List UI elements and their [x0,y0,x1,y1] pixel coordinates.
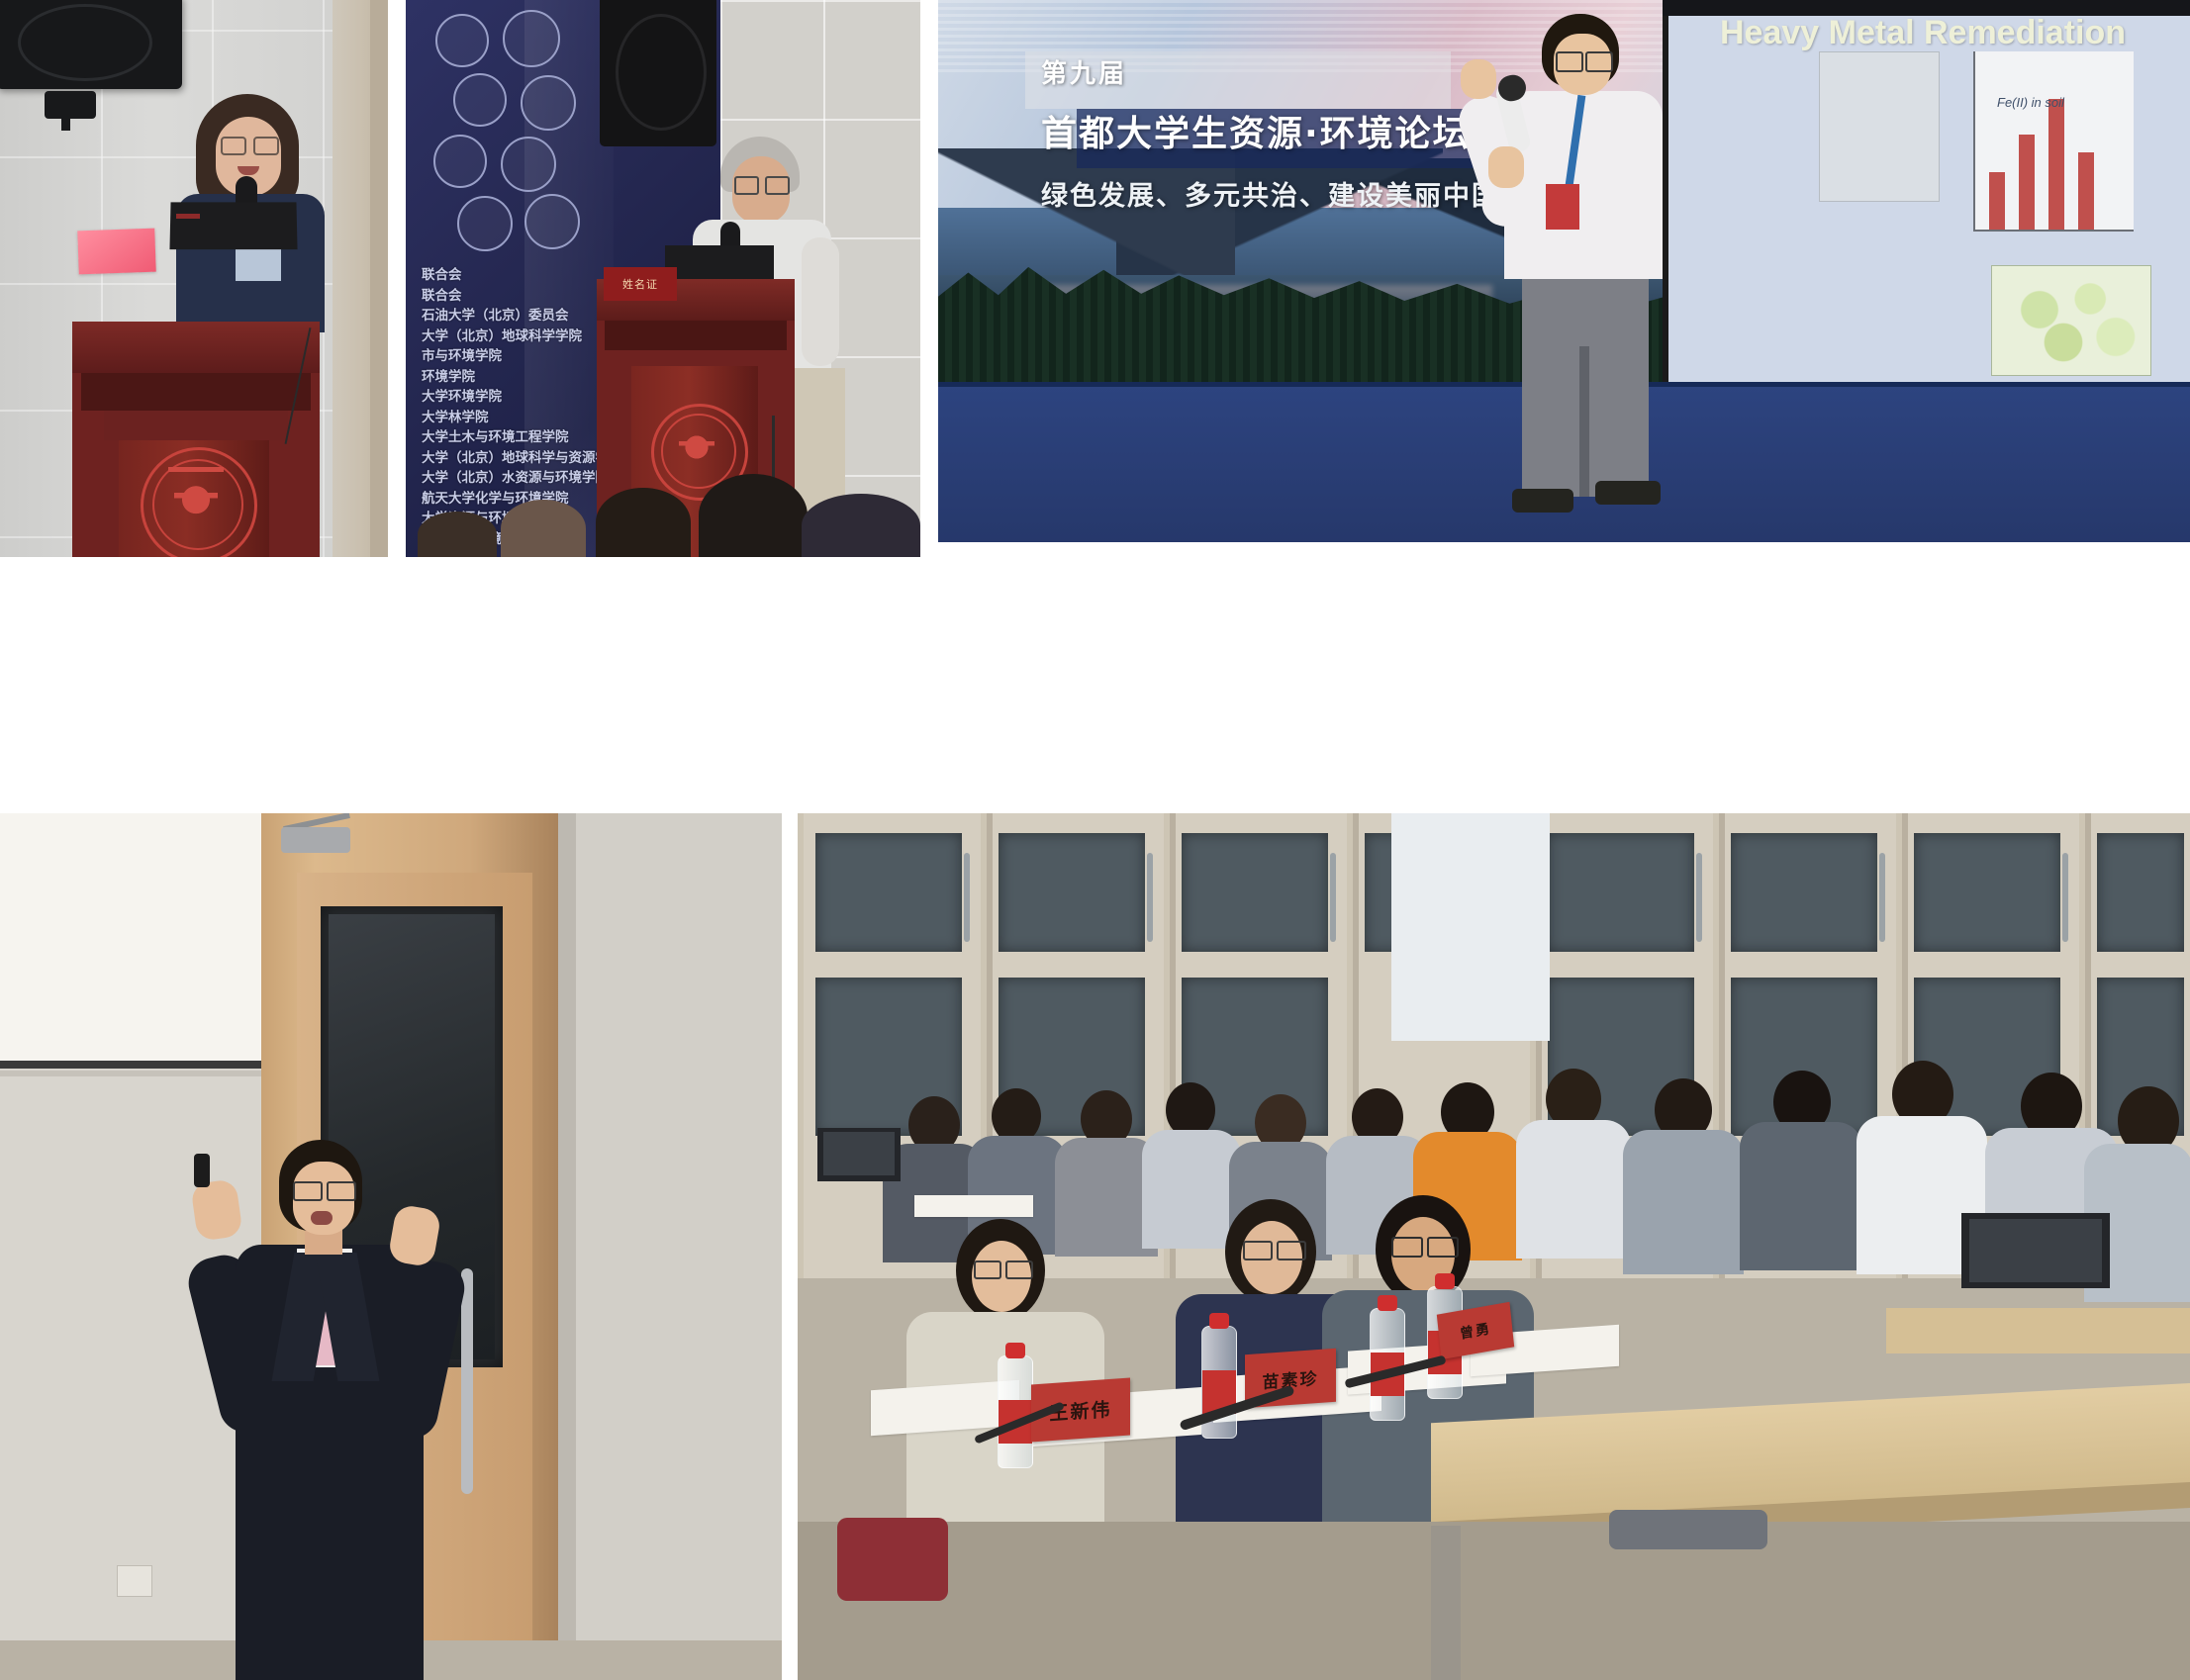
audience-head [501,500,586,557]
glasses-icon [1005,1260,1033,1279]
university-seal-icon [521,75,576,131]
wall-socket-icon [117,1565,152,1597]
university-seal-icon [453,73,507,127]
university-seal-icon [501,137,556,192]
office-chair[interactable] [837,1518,948,1601]
audience-head [596,488,691,557]
audience-body [1142,1130,1241,1249]
cabinet-glass-door [815,833,962,952]
wall-column-edge [370,0,388,557]
laptop-logo [176,214,200,219]
university-crest-bar [168,467,224,472]
ceiling-speaker-icon [0,0,182,89]
photo-panel-woman-speaker [0,0,388,557]
speaker-trousers [794,368,845,516]
photo-collage: 联合会 联合会 石油大学（北京）委员会 大学（北京）地球科学学院 市与环境学院 … [0,0,2190,1680]
slide-caption: Fe(II) in soil [1997,95,2064,110]
door-handle[interactable] [461,1268,473,1494]
speaker-mount [45,91,96,119]
university-crest-mark [679,431,714,471]
university-seal-icon [433,135,487,188]
photo-panel-stage-presenter: 第九届 首都大学生资源·环境论坛 绿色发展、多元共治、建设美丽中国 Heavy … [938,0,2190,542]
university-crest-mark [174,481,218,528]
cabinet-glass-door [2097,833,2184,952]
window [1391,813,1550,1041]
glasses-icon [974,1260,1001,1279]
photo-panel-audience-judges: 王新伟 苗素珍 曾勇 [798,813,2190,1680]
photo-panel-senior-speaker: 联合会 联合会 石油大学（北京）委员会 大学（北京）地球科学学院 市与环境学院 … [406,0,920,557]
presenter-shoe [1595,481,1661,505]
cabinet-glass-door [1731,833,1877,952]
glasses-icon [327,1181,356,1201]
office-chair[interactable] [1609,1510,1767,1549]
glasses-icon [1277,1241,1306,1260]
table-leg [1431,1526,1461,1680]
wall-trim [0,1071,297,1076]
water-bottle [998,1355,1033,1468]
slide-image-left [1819,51,1940,202]
slide-chart-bar [2019,135,2035,230]
glasses-icon [1391,1237,1423,1258]
cabinet-handle[interactable] [964,853,970,942]
laptop-screen [823,1132,895,1175]
university-seal-icon [435,14,489,67]
slide-chart-bar [2078,152,2094,230]
middle-row-table [1886,1308,2190,1353]
forum-edition-label: 第九届 [1041,53,1127,90]
ceiling-speaker-icon [600,0,716,146]
document [914,1195,1033,1217]
presenter-hand-left [1461,59,1496,99]
glasses-icon [293,1181,323,1201]
glasses-icon [1427,1237,1459,1258]
cabinet-handle[interactable] [1696,853,1702,942]
badge-icon [1546,184,1579,230]
audience-head [802,494,920,557]
slide-chart [1973,51,2134,232]
glasses-icon [734,176,759,195]
audience-body [1740,1122,1862,1270]
podium-top [72,322,320,373]
cabinet-glass-door [1548,833,1694,952]
side-wall-edge [558,813,576,1680]
audience-head [418,512,497,557]
glasses-icon [1585,51,1613,72]
door-closer-icon [281,827,350,853]
glasses-icon [1556,51,1583,72]
audience-body [1516,1120,1631,1259]
slide-title: Heavy Metal Remediation [1720,14,2126,52]
cabinet-glass-door [1914,833,2060,952]
presenter-hand-right [1488,146,1524,188]
presentation-clicker-icon [194,1154,210,1187]
photo-panel-suited-presenter [0,813,782,1680]
glasses-icon [253,137,279,155]
speaker-pole [61,115,70,131]
podium-nameplate: 姓名证 [604,267,677,301]
cabinet-glass-door [1182,833,1328,952]
laptop-screen [1969,1219,2102,1282]
podium-band [605,321,787,350]
presenter-shoe [1512,489,1573,513]
water-bottle [1370,1308,1405,1421]
university-seal-icon [524,194,580,249]
room-floor [798,1522,2190,1680]
slide-image-bottom [1991,265,2151,376]
cabinet-handle[interactable] [1330,853,1336,942]
glasses-icon [1243,1241,1273,1260]
university-seal-icon [457,196,513,251]
cabinet-handle[interactable] [1879,853,1885,942]
presenter-leg-split [1579,346,1589,497]
projection-screen-edge [0,1061,277,1069]
slide-chart-bar [1989,172,2005,230]
speaker-arm [802,237,839,366]
cabinet-handle[interactable] [1147,853,1153,942]
projection-screen [0,813,267,1063]
side-wall [558,813,782,1680]
podium-band [81,373,311,411]
podium-neck [104,411,288,440]
glasses-icon [765,176,790,195]
cabinet-handle[interactable] [2062,853,2068,942]
slide-chart-bar [2048,99,2064,230]
university-seal-icon [503,10,560,67]
glasses-icon [221,137,246,155]
audience-head [699,474,808,557]
presenter-mouth [311,1211,333,1225]
pink-card-on-podium [77,229,155,275]
laptop-on-podium [169,202,297,249]
audience-body [1623,1130,1744,1274]
forum-slogan: 绿色发展、多元共治、建设美丽中国 [1041,174,1500,213]
cabinet-glass-door [999,833,1145,952]
forum-title: 首都大学生资源·环境论坛 [1041,105,1471,156]
